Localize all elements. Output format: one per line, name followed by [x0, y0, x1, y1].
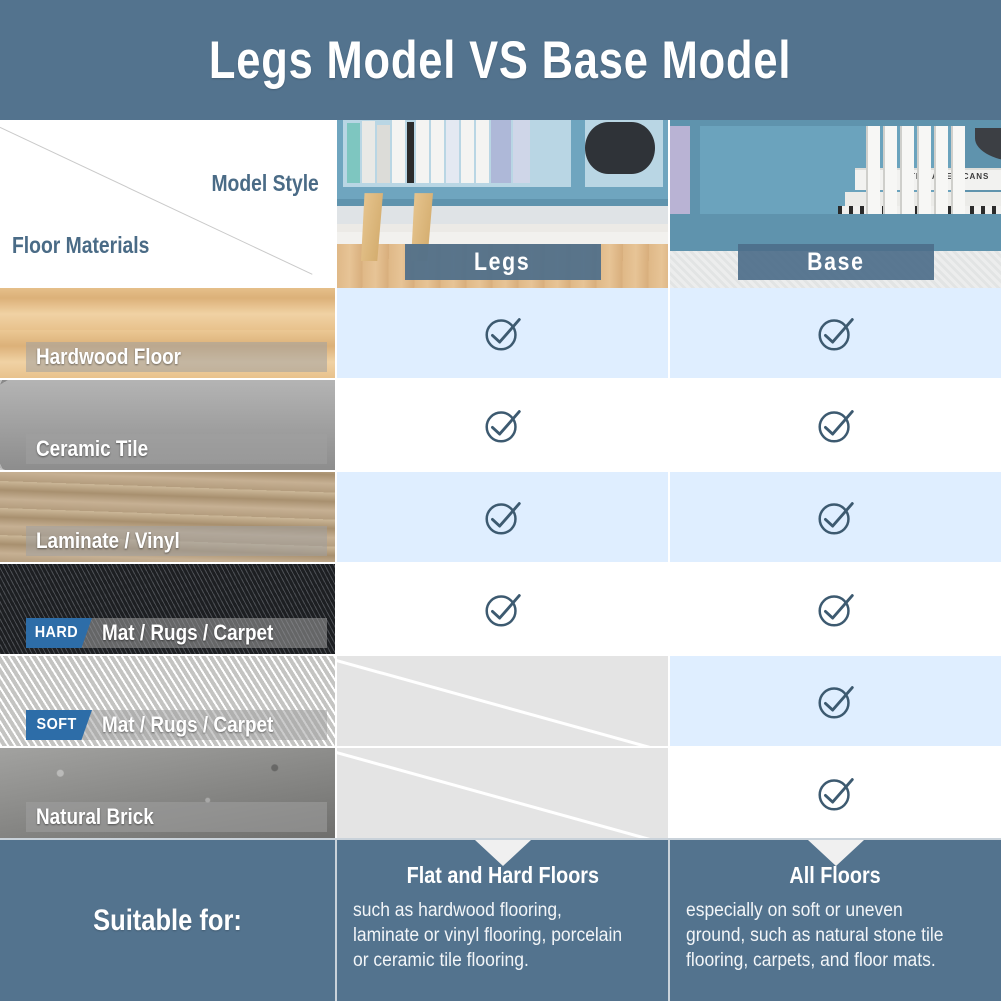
base-column-photo: THE AMERICANS Base	[670, 120, 1001, 288]
books-group	[347, 120, 567, 183]
legs-summary-heading: Flat and Hard Floors	[337, 862, 668, 889]
legs-column-banner: Legs	[405, 244, 601, 280]
suitable-for-cell: Suitable for:	[0, 840, 335, 1001]
cell-base-hardwood	[670, 288, 1001, 380]
material-label-banner: Ceramic Tile	[26, 434, 327, 464]
summary-footer: Suitable for: Flat and Hard Floors such …	[0, 840, 1001, 1001]
check-circle-icon	[813, 402, 859, 448]
footer-column-divider	[668, 840, 670, 1001]
check-circle-icon	[813, 770, 859, 816]
cell-legs-hard-carpet	[337, 564, 668, 656]
cell-base-soft-carpet	[670, 656, 1001, 748]
cell-legs-brick-unsupported	[337, 748, 668, 840]
page-title: Legs Model VS Base Model	[209, 30, 791, 91]
table-row: HARD Mat / Rugs / Carpet	[0, 564, 335, 656]
comparison-grid: Model Style Floor Materials Legs	[0, 120, 1001, 840]
column-divider	[668, 120, 670, 840]
suitable-for-label: Suitable for:	[93, 904, 242, 938]
corner-header-cell: Model Style Floor Materials	[0, 120, 335, 288]
table-row: Hardwood Floor	[0, 288, 335, 380]
check-circle-icon	[813, 586, 859, 632]
table-row: Ceramic Tile	[0, 380, 335, 472]
material-name: Mat / Rugs / Carpet	[102, 620, 273, 646]
hardness-badge-soft: SOFT	[26, 710, 92, 740]
cell-base-hard-carpet	[670, 564, 1001, 656]
material-label-banner: SOFT Mat / Rugs / Carpet	[26, 710, 327, 740]
footer-column-divider	[335, 840, 337, 1001]
cell-legs-soft-carpet-unsupported	[337, 656, 668, 748]
base-column-banner: Base	[738, 244, 934, 280]
baseboard	[337, 232, 668, 244]
check-circle-icon	[480, 402, 526, 448]
check-circle-icon	[813, 678, 859, 724]
check-circle-icon	[813, 310, 859, 356]
model-style-label: Model Style	[212, 170, 319, 197]
material-name: Ceramic Tile	[36, 436, 148, 462]
check-circle-icon	[480, 494, 526, 540]
badge-label: HARD	[35, 624, 78, 642]
base-summary-cell: All Floors especially on soft or uneven …	[670, 840, 1001, 1001]
base-column-label: Base	[807, 248, 865, 277]
comparison-chart: Legs Model VS Base Model Model Style Flo…	[0, 0, 1001, 1001]
legs-summary-body: such as hardwood flooring, laminate or v…	[353, 898, 630, 973]
floor-materials-label: Floor Materials	[12, 232, 149, 259]
books-group	[866, 126, 965, 220]
material-name: Natural Brick	[36, 804, 154, 830]
badge-label: SOFT	[36, 716, 76, 734]
legs-summary-cell: Flat and Hard Floors such as hardwood fl…	[337, 840, 668, 1001]
material-name: Hardwood Floor	[36, 344, 181, 370]
check-circle-icon	[480, 310, 526, 356]
cell-base-brick	[670, 748, 1001, 840]
cell-base-laminate	[670, 472, 1001, 564]
material-label-banner: HARD Mat / Rugs / Carpet	[26, 618, 327, 648]
legs-column-photo: Legs	[337, 120, 668, 288]
cell-base-ceramic	[670, 380, 1001, 472]
material-label-banner: Laminate / Vinyl	[26, 526, 327, 556]
table-row: SOFT Mat / Rugs / Carpet	[0, 656, 335, 748]
cell-legs-hardwood	[337, 288, 668, 380]
bookshelf-body	[337, 120, 668, 206]
column-divider	[335, 120, 337, 840]
cell-legs-ceramic	[337, 380, 668, 472]
base-summary-heading-text: All Floors	[790, 862, 881, 889]
hardness-badge-hard: HARD	[26, 618, 92, 648]
legs-summary-heading-text: Flat and Hard Floors	[406, 862, 598, 889]
table-row: Natural Brick	[0, 748, 335, 840]
chart-title-bar: Legs Model VS Base Model	[0, 0, 1001, 120]
check-circle-icon	[813, 494, 859, 540]
material-label-banner: Hardwood Floor	[26, 342, 327, 372]
legs-column-label: Legs	[474, 248, 530, 277]
material-name: Laminate / Vinyl	[36, 528, 180, 554]
material-name: Mat / Rugs / Carpet	[102, 712, 273, 738]
table-row: Laminate / Vinyl	[0, 472, 335, 564]
side-panel	[670, 126, 690, 223]
material-label-banner: Natural Brick	[26, 802, 327, 832]
cell-legs-laminate	[337, 472, 668, 564]
decor-bowl	[585, 122, 655, 174]
base-summary-heading: All Floors	[670, 862, 1001, 889]
base-summary-body: especially on soft or uneven ground, suc…	[686, 898, 963, 973]
check-circle-icon	[480, 586, 526, 632]
footer-top-divider	[0, 838, 1001, 840]
